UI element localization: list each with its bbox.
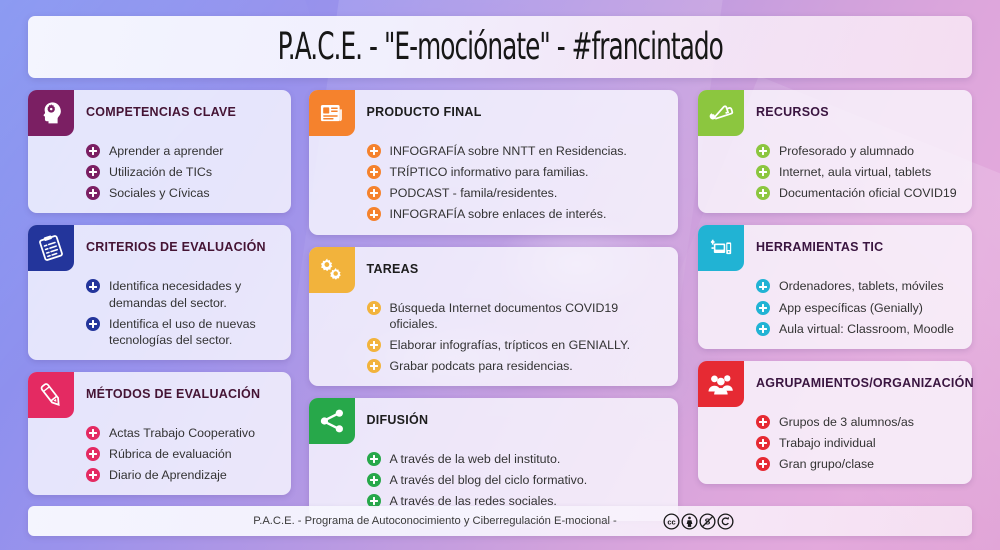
head-gear-icon bbox=[28, 90, 74, 136]
card-title: HERRAMIENTAS TIC bbox=[756, 235, 883, 254]
card-recursos: RECURSOSProfesorado y alumnadoInternet, … bbox=[698, 90, 972, 213]
card-title: AGRUPAMIENTOS/ORGANIZACIÓN bbox=[756, 371, 974, 390]
card-title: COMPETENCIAS CLAVE bbox=[86, 100, 236, 119]
card-item-list: Ordenadores, tablets, móvilesApp específ… bbox=[698, 278, 960, 336]
plus-bullet-icon bbox=[367, 338, 381, 352]
plus-bullet-icon bbox=[756, 165, 770, 179]
card-metodos-de-evaluacion: MÉTODOS DE EVALUACIÓNActas Trabajo Coope… bbox=[28, 372, 291, 495]
card-tareas: TAREASBúsqueda Internet documentos COVID… bbox=[309, 247, 678, 387]
card-item-list: Actas Trabajo CooperativoRúbrica de eval… bbox=[28, 425, 279, 483]
list-item: Aprender a aprender bbox=[86, 143, 279, 159]
card-producto-final: PRODUCTO FINALINFOGRAFÍA sobre NNTT en R… bbox=[309, 90, 678, 235]
list-item-label: App específicas (Genially) bbox=[779, 300, 923, 316]
list-item: INFOGRAFÍA sobre enlaces de interés. bbox=[367, 206, 666, 222]
list-item-label: A través de la web del instituto. bbox=[390, 451, 561, 467]
plus-bullet-icon bbox=[756, 186, 770, 200]
list-item: Identifica el uso de nuevas tecnologías … bbox=[86, 316, 279, 348]
cc-nd-icon bbox=[717, 513, 734, 530]
plus-bullet-icon bbox=[86, 447, 100, 461]
card-header: HERRAMIENTAS TIC bbox=[698, 235, 960, 271]
list-item-label: Actas Trabajo Cooperativo bbox=[109, 425, 255, 441]
plus-bullet-icon bbox=[86, 165, 100, 179]
list-item: Gran grupo/clase bbox=[756, 456, 960, 472]
list-item-label: Gran grupo/clase bbox=[779, 456, 874, 472]
list-item-label: Ordenadores, tablets, móviles bbox=[779, 278, 944, 294]
card-header: CRITERIOS DE EVALUACIÓN bbox=[28, 235, 279, 271]
card-header: PRODUCTO FINAL bbox=[309, 100, 666, 136]
column-middle: PRODUCTO FINALINFOGRAFÍA sobre NNTT en R… bbox=[309, 90, 678, 521]
list-item: Rúbrica de evaluación bbox=[86, 446, 279, 462]
title-bar: P.A.C.E. - "E-mociónate" - #francintado bbox=[28, 16, 972, 78]
list-item: Diario de Aprendizaje bbox=[86, 467, 279, 483]
card-title: CRITERIOS DE EVALUACIÓN bbox=[86, 235, 266, 254]
list-item-label: A través del blog del ciclo formativo. bbox=[390, 472, 588, 488]
plus-bullet-icon bbox=[86, 186, 100, 200]
list-item-label: Sociales y Cívicas bbox=[109, 185, 210, 201]
plus-bullet-icon bbox=[367, 301, 381, 315]
plus-bullet-icon bbox=[86, 317, 100, 331]
safety-pin-icon bbox=[698, 90, 744, 136]
card-item-list: Identifica necesidades y demandas del se… bbox=[28, 278, 279, 348]
list-item-label: Grupos de 3 alumnos/as bbox=[779, 414, 914, 430]
list-item: INFOGRAFÍA sobre NNTT en Residencias. bbox=[367, 143, 666, 159]
list-item-label: Aula virtual: Classroom, Moodle bbox=[779, 321, 954, 337]
card-title: PRODUCTO FINAL bbox=[367, 100, 482, 119]
newspaper-icon bbox=[309, 90, 355, 136]
list-item: Documentación oficial COVID19 bbox=[756, 185, 960, 201]
card-header: DIFUSIÓN bbox=[309, 408, 666, 444]
column-left: COMPETENCIAS CLAVEAprender a aprenderUti… bbox=[28, 90, 291, 495]
list-item: Ordenadores, tablets, móviles bbox=[756, 278, 960, 294]
pencil-icon bbox=[28, 372, 74, 418]
card-herramientas-tic: HERRAMIENTAS TICOrdenadores, tablets, mó… bbox=[698, 225, 972, 348]
plus-bullet-icon bbox=[367, 452, 381, 466]
card-item-list: Grupos de 3 alumnos/asTrabajo individual… bbox=[698, 414, 960, 472]
people-group-icon bbox=[698, 361, 744, 407]
cards-grid: COMPETENCIAS CLAVEAprender a aprenderUti… bbox=[28, 90, 972, 521]
plus-bullet-icon bbox=[756, 279, 770, 293]
list-item: Trabajo individual bbox=[756, 435, 960, 451]
list-item: Actas Trabajo Cooperativo bbox=[86, 425, 279, 441]
list-item-label: INFOGRAFÍA sobre enlaces de interés. bbox=[390, 206, 607, 222]
list-item: Grabar podcats para residencias. bbox=[367, 358, 666, 374]
list-item: Elaborar infografías, trípticos en GENIA… bbox=[367, 337, 666, 353]
card-title: MÉTODOS DE EVALUACIÓN bbox=[86, 382, 260, 401]
devices-icon bbox=[698, 225, 744, 271]
list-item: TRÍPTICO informativo para familias. bbox=[367, 164, 666, 180]
card-header: COMPETENCIAS CLAVE bbox=[28, 100, 279, 136]
list-item: A través del blog del ciclo formativo. bbox=[367, 472, 666, 488]
column-right: RECURSOSProfesorado y alumnadoInternet, … bbox=[698, 90, 972, 484]
list-item-label: TRÍPTICO informativo para familias. bbox=[390, 164, 589, 180]
list-item-label: Internet, aula virtual, tablets bbox=[779, 164, 931, 180]
plus-bullet-icon bbox=[756, 457, 770, 471]
list-item: PODCAST - famila/residentes. bbox=[367, 185, 666, 201]
plus-bullet-icon bbox=[756, 415, 770, 429]
list-item-label: Documentación oficial COVID19 bbox=[779, 185, 957, 201]
list-item-label: Identifica el uso de nuevas tecnologías … bbox=[109, 316, 279, 348]
plus-bullet-icon bbox=[756, 301, 770, 315]
cc-nc-icon: S bbox=[699, 513, 716, 530]
card-item-list: A través de la web del instituto.A travé… bbox=[309, 451, 666, 509]
list-item: Sociales y Cívicas bbox=[86, 185, 279, 201]
plus-bullet-icon bbox=[367, 186, 381, 200]
list-item-label: Profesorado y alumnado bbox=[779, 143, 914, 159]
plus-bullet-icon bbox=[86, 426, 100, 440]
list-item-label: Utilización de TICs bbox=[109, 164, 212, 180]
plus-bullet-icon bbox=[756, 436, 770, 450]
plus-bullet-icon bbox=[756, 322, 770, 336]
list-item: Identifica necesidades y demandas del se… bbox=[86, 278, 279, 310]
footer-text: P.A.C.E. - Programa de Autoconocimiento … bbox=[28, 515, 972, 527]
plus-bullet-icon bbox=[86, 144, 100, 158]
cc-by-icon bbox=[681, 513, 698, 530]
list-item: Búsqueda Internet documentos COVID19 ofi… bbox=[367, 300, 666, 332]
list-item-label: Trabajo individual bbox=[779, 435, 876, 451]
list-item: Grupos de 3 alumnos/as bbox=[756, 414, 960, 430]
list-item: Aula virtual: Classroom, Moodle bbox=[756, 321, 960, 337]
card-header: AGRUPAMIENTOS/ORGANIZACIÓN bbox=[698, 371, 960, 407]
plus-bullet-icon bbox=[367, 473, 381, 487]
card-item-list: INFOGRAFÍA sobre NNTT en Residencias.TRÍ… bbox=[309, 143, 666, 223]
card-criterios-de-evaluacion: CRITERIOS DE EVALUACIÓNIdentifica necesi… bbox=[28, 225, 291, 360]
card-title: TAREAS bbox=[367, 257, 419, 276]
card-agrupamientos-organizacion: AGRUPAMIENTOS/ORGANIZACIÓNGrupos de 3 al… bbox=[698, 361, 972, 484]
list-item-label: Búsqueda Internet documentos COVID19 ofi… bbox=[390, 300, 666, 332]
card-title: DIFUSIÓN bbox=[367, 408, 429, 427]
plus-bullet-icon bbox=[367, 165, 381, 179]
svg-text:cc: cc bbox=[667, 517, 675, 526]
list-item-label: Grabar podcats para residencias. bbox=[390, 358, 573, 374]
clipboard-checklist-icon bbox=[28, 225, 74, 271]
plus-bullet-icon bbox=[86, 468, 100, 482]
list-item: Internet, aula virtual, tablets bbox=[756, 164, 960, 180]
list-item-label: INFOGRAFÍA sobre NNTT en Residencias. bbox=[390, 143, 627, 159]
plus-bullet-icon bbox=[86, 279, 100, 293]
gears-icon bbox=[309, 247, 355, 293]
card-header: TAREAS bbox=[309, 257, 666, 293]
list-item-label: Elaborar infografías, trípticos en GENIA… bbox=[390, 337, 631, 353]
list-item-label: Aprender a aprender bbox=[109, 143, 223, 159]
card-difusion: DIFUSIÓNA través de la web del instituto… bbox=[309, 398, 678, 521]
cc-icon: cc bbox=[663, 513, 680, 530]
plus-bullet-icon bbox=[367, 144, 381, 158]
list-item-label: PODCAST - famila/residentes. bbox=[390, 185, 558, 201]
plus-bullet-icon bbox=[367, 359, 381, 373]
card-title: RECURSOS bbox=[756, 100, 829, 119]
card-item-list: Búsqueda Internet documentos COVID19 ofi… bbox=[309, 300, 666, 375]
card-competencias-clave: COMPETENCIAS CLAVEAprender a aprenderUti… bbox=[28, 90, 291, 213]
card-item-list: Aprender a aprenderUtilización de TICsSo… bbox=[28, 143, 279, 201]
list-item-label: Identifica necesidades y demandas del se… bbox=[109, 278, 279, 310]
creative-commons-badges: ccS bbox=[663, 513, 734, 530]
list-item: A través de la web del instituto. bbox=[367, 451, 666, 467]
plus-bullet-icon bbox=[367, 207, 381, 221]
footer-bar: P.A.C.E. - Programa de Autoconocimiento … bbox=[28, 506, 972, 536]
list-item-label: Diario de Aprendizaje bbox=[109, 467, 227, 483]
page-title: P.A.C.E. - "E-mociónate" - #francintado bbox=[277, 25, 722, 69]
share-icon bbox=[309, 398, 355, 444]
list-item: App específicas (Genially) bbox=[756, 300, 960, 316]
list-item-label: Rúbrica de evaluación bbox=[109, 446, 232, 462]
list-item: Utilización de TICs bbox=[86, 164, 279, 180]
card-header: MÉTODOS DE EVALUACIÓN bbox=[28, 382, 279, 418]
card-header: RECURSOS bbox=[698, 100, 960, 136]
infographic-page: P.A.C.E. - "E-mociónate" - #francintado … bbox=[0, 0, 1000, 550]
card-item-list: Profesorado y alumnadoInternet, aula vir… bbox=[698, 143, 960, 201]
plus-bullet-icon bbox=[756, 144, 770, 158]
list-item: Profesorado y alumnado bbox=[756, 143, 960, 159]
